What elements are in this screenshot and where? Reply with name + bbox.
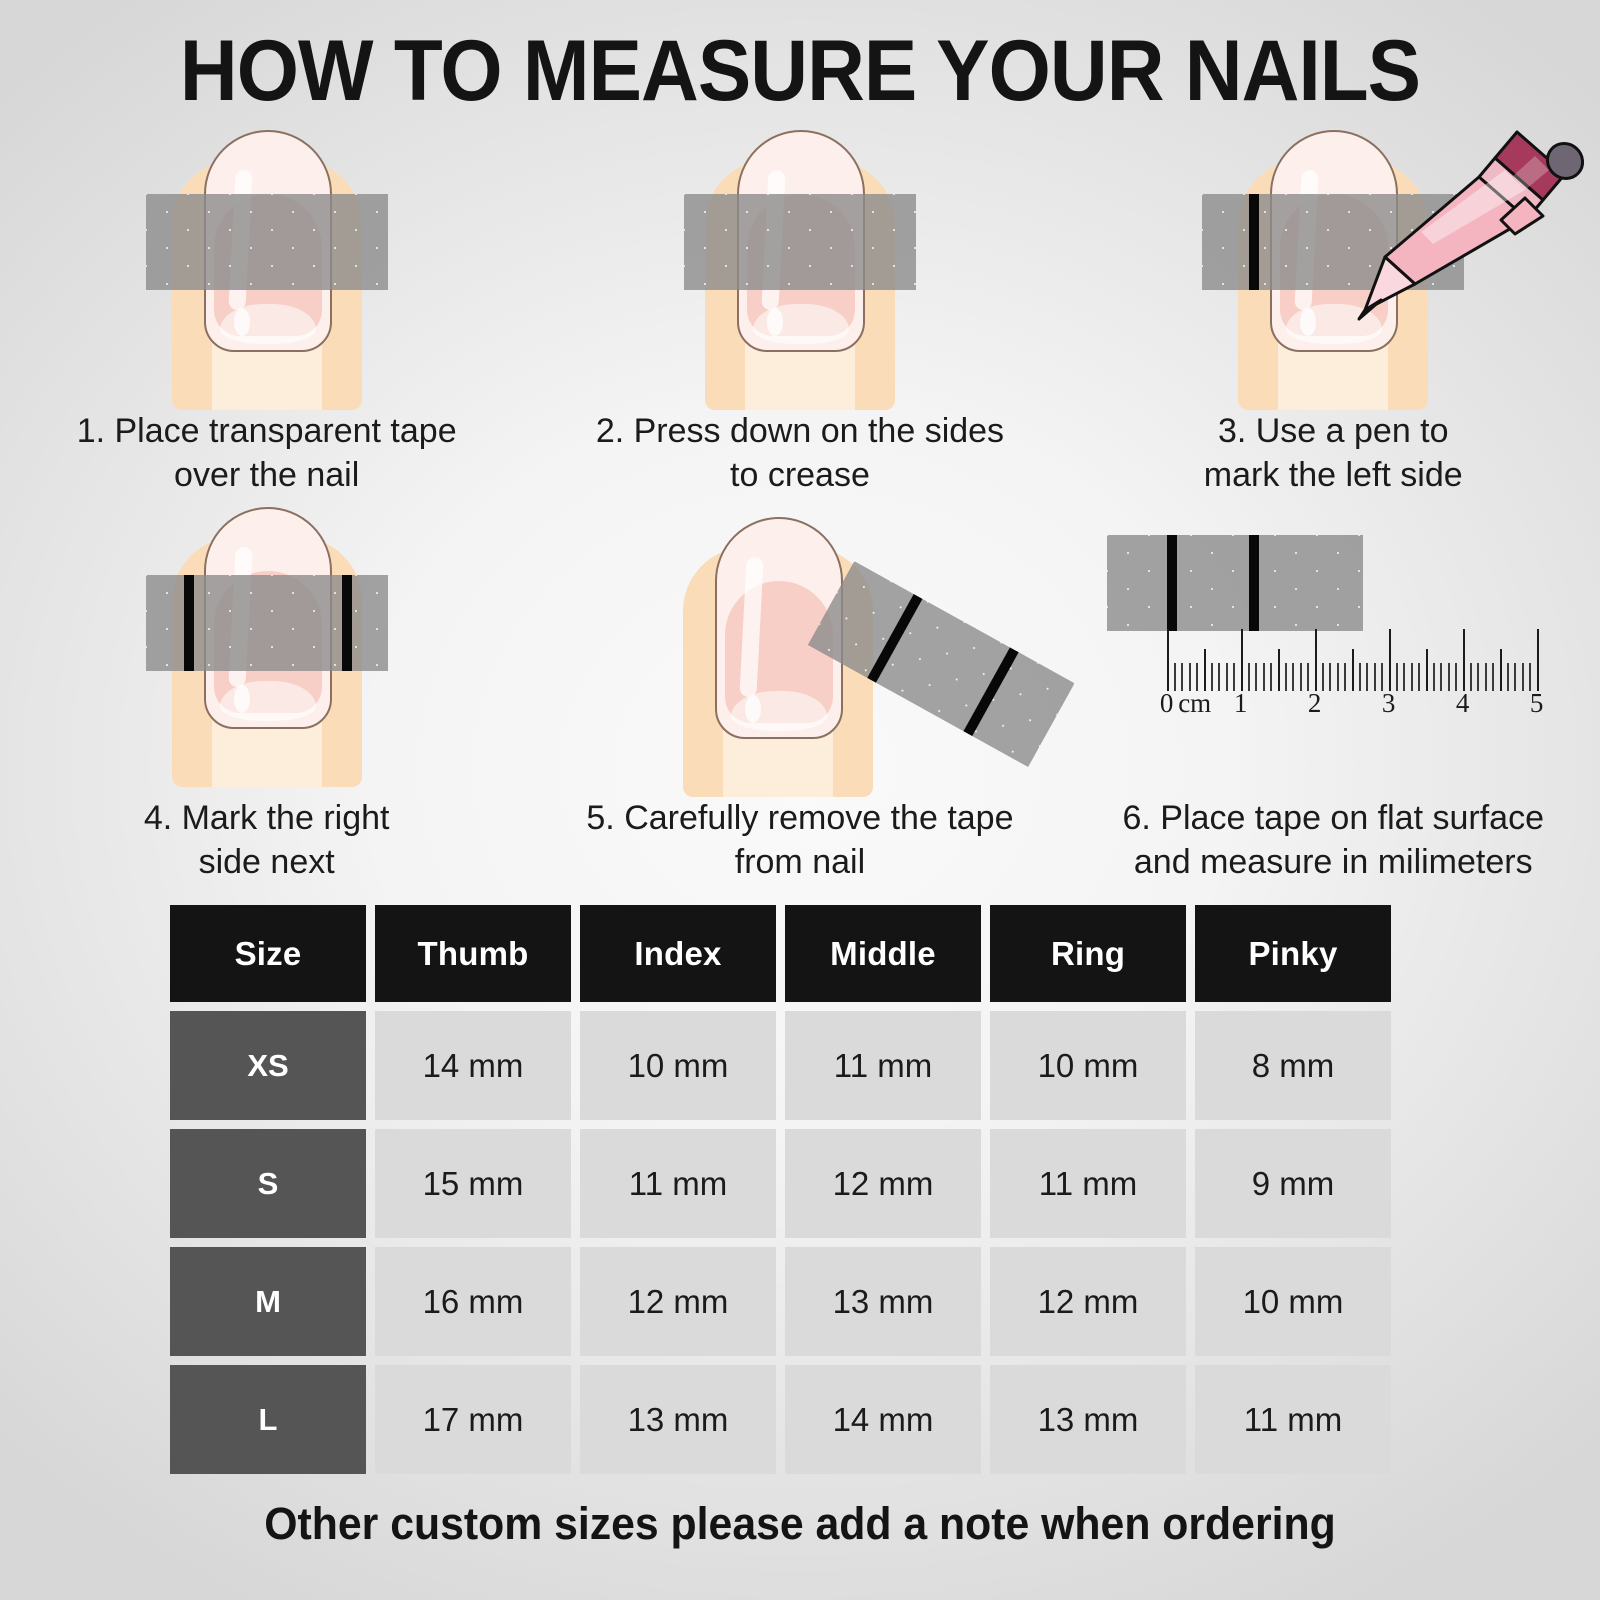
tape-zigzag-left (132, 575, 146, 671)
ruler-tick (1181, 663, 1183, 691)
table-row: S15 mm11 mm12 mm11 mm9 mm (170, 1129, 1435, 1238)
step-6-caption: 6. Place tape on flat surface and measur… (1067, 797, 1600, 884)
table-cell: 13 mm (785, 1247, 981, 1356)
ruler-tick (1285, 663, 1287, 691)
ruler-tick (1403, 663, 1405, 691)
table-cell: 12 mm (785, 1129, 981, 1238)
ruler-tick (1218, 663, 1220, 691)
table-cell: 13 mm (990, 1365, 1186, 1474)
step-1-illustration (0, 120, 533, 410)
step-2-caption: 2. Press down on the sides to crease (533, 410, 1066, 497)
ruler-tick (1463, 629, 1466, 691)
ruler-tick (1270, 663, 1272, 691)
table-row: L17 mm13 mm14 mm13 mm11 mm (170, 1365, 1435, 1474)
tape-strip-creased (684, 194, 916, 290)
table-header-size: Size (170, 905, 366, 1002)
ruler-tick (1211, 663, 1213, 691)
ruler-tick (1366, 663, 1368, 691)
step-4-illustration (0, 497, 533, 797)
ruler-tick (1189, 663, 1191, 691)
ruler-label-2: 2 (1308, 688, 1322, 719)
right-pen-mark (964, 647, 1019, 736)
ruler-tick (1514, 663, 1516, 691)
ruler-tick (1315, 629, 1318, 691)
pen-icon (1329, 114, 1589, 334)
table-cell: 8 mm (1195, 1011, 1391, 1120)
ruler-tick (1322, 663, 1324, 691)
ruler-tick (1396, 663, 1398, 691)
nail-lunula (731, 691, 827, 731)
tape-zigzag-right (388, 575, 402, 671)
table-size-cell: L (170, 1365, 366, 1474)
table-header-row: SizeThumbIndexMiddleRingPinky (170, 905, 1435, 1002)
ruler-tick (1440, 663, 1442, 691)
ruler-tick (1167, 629, 1170, 691)
infographic-page: HOW TO MEASURE YOUR NAILS (0, 0, 1600, 1600)
table-cell: 14 mm (785, 1365, 981, 1474)
table-size-cell: S (170, 1129, 366, 1238)
table-cell: 10 mm (990, 1011, 1186, 1120)
ruler-tick (1255, 663, 1257, 691)
table-cell: 11 mm (580, 1129, 776, 1238)
ruler-tick (1529, 663, 1531, 691)
ruler-tick (1374, 663, 1376, 691)
right-pen-mark (1249, 535, 1259, 631)
step-5: 5. Carefully remove the tape from nail (533, 497, 1066, 884)
ruler-tick (1389, 629, 1392, 691)
size-chart-table: SizeThumbIndexMiddleRingPinky XS14 mm10 … (170, 905, 1435, 1483)
step-6: 012345cm 6. Place tape on flat surface a… (1067, 497, 1600, 884)
ruler-tick (1359, 663, 1361, 691)
ruler-tick (1418, 663, 1420, 691)
ruler-tick (1448, 663, 1450, 691)
step-1-caption: 1. Place transparent tape over the nail (0, 410, 533, 497)
tape-strip (146, 194, 388, 290)
step-1: 1. Place transparent tape over the nail (0, 120, 533, 497)
table-cell: 9 mm (1195, 1129, 1391, 1238)
steps-row-1: 1. Place transparent tape over the nail (0, 120, 1600, 497)
table-cell: 12 mm (580, 1247, 776, 1356)
tape-zigzag-left (132, 194, 146, 290)
ruler-tick (1292, 663, 1294, 691)
ruler-label-4: 4 (1456, 688, 1470, 719)
table-body: XS14 mm10 mm11 mm10 mm8 mmS15 mm11 mm12 … (170, 1011, 1435, 1474)
ruler-tick (1226, 663, 1228, 691)
tape-zigzag-right (916, 194, 930, 290)
left-pen-mark (868, 594, 923, 683)
step-5-illustration (533, 497, 1066, 797)
ruler-tick (1337, 663, 1339, 691)
ruler-tick (1507, 663, 1509, 691)
table-row: XS14 mm10 mm11 mm10 mm8 mm (170, 1011, 1435, 1120)
ruler-label-3: 3 (1382, 688, 1396, 719)
left-pen-mark (1249, 194, 1259, 290)
ruler-tick (1381, 663, 1383, 691)
ruler-tick (1344, 663, 1346, 691)
steps-row-2: 4. Mark the right side next (0, 497, 1600, 884)
ruler-tick (1329, 663, 1331, 691)
left-pen-mark (1167, 535, 1177, 631)
ruler-tick (1196, 663, 1198, 691)
ruler-tick (1352, 649, 1354, 691)
step-4: 4. Mark the right side next (0, 497, 533, 884)
ruler-tick (1411, 663, 1413, 691)
ruler-label-5: 5 (1530, 688, 1544, 719)
table-header-thumb: Thumb (375, 905, 571, 1002)
ruler-label-1: 1 (1234, 688, 1248, 719)
ruler-tick (1470, 663, 1472, 691)
ruler-tick (1204, 649, 1206, 691)
ruler-tick (1500, 649, 1502, 691)
ruler-tick (1485, 663, 1487, 691)
nail-lunula (220, 681, 316, 721)
tape-zigzag-right (1363, 535, 1377, 631)
ruler-label-0: 0 (1160, 688, 1174, 719)
table-cell: 10 mm (580, 1011, 776, 1120)
left-pen-mark (184, 575, 194, 671)
table-header-pinky: Pinky (1195, 905, 1391, 1002)
table-cell: 10 mm (1195, 1247, 1391, 1356)
table-size-cell: XS (170, 1011, 366, 1120)
table-cell: 17 mm (375, 1365, 571, 1474)
step-3: 3. Use a pen to mark the left side (1067, 120, 1600, 497)
ruler-measurement: 012345cm (1097, 517, 1567, 767)
nail-lunula (220, 304, 316, 344)
table-header-ring: Ring (990, 905, 1186, 1002)
tape-zigzag-left (670, 194, 684, 290)
tape-strip-flat (1107, 535, 1363, 631)
table-header-middle: Middle (785, 905, 981, 1002)
ruler-tick (1455, 663, 1457, 691)
ruler-tick (1278, 649, 1280, 691)
tape-zigzag-left (1093, 535, 1107, 631)
table-cell: 12 mm (990, 1247, 1186, 1356)
steps-container: 1. Place transparent tape over the nail (0, 120, 1600, 884)
table-cell: 11 mm (990, 1129, 1186, 1238)
tape-zigzag-right (388, 194, 402, 290)
table-cell: 11 mm (785, 1011, 981, 1120)
ruler-tick (1248, 663, 1250, 691)
ruler-tick (1477, 663, 1479, 691)
step-2-illustration (533, 120, 1066, 410)
step-4-caption: 4. Mark the right side next (0, 797, 533, 884)
ruler-tick (1263, 663, 1265, 691)
table-cell: 16 mm (375, 1247, 571, 1356)
table-cell: 15 mm (375, 1129, 571, 1238)
tape-zigzag-left (1188, 194, 1202, 290)
ruler-tick (1174, 663, 1176, 691)
step-5-caption: 5. Carefully remove the tape from nail (533, 797, 1066, 884)
ruler-unit-label: cm (1178, 688, 1211, 719)
ruler-tick (1522, 663, 1524, 691)
ruler-tick (1433, 663, 1435, 691)
step-2: 2. Press down on the sides to crease (533, 120, 1066, 497)
step-3-illustration (1067, 120, 1600, 410)
ruler: 012345cm (1167, 629, 1537, 719)
ruler-tick (1492, 663, 1494, 691)
ruler-tick (1300, 663, 1302, 691)
step-3-caption: 3. Use a pen to mark the left side (1067, 410, 1600, 497)
table-header-index: Index (580, 905, 776, 1002)
ruler-tick (1537, 629, 1540, 691)
nail-lunula (753, 304, 849, 344)
ruler-tick (1233, 663, 1235, 691)
table-cell: 13 mm (580, 1365, 776, 1474)
table-cell: 11 mm (1195, 1365, 1391, 1474)
page-title: HOW TO MEASURE YOUR NAILS (56, 28, 1544, 114)
step-6-illustration: 012345cm (1067, 497, 1600, 797)
table-row: M16 mm12 mm13 mm12 mm10 mm (170, 1247, 1435, 1356)
ruler-tick (1241, 629, 1244, 691)
footer-note: Other custom sizes please add a note whe… (40, 1498, 1560, 1550)
ruler-tick (1426, 649, 1428, 691)
table-size-cell: M (170, 1247, 366, 1356)
right-pen-mark (342, 575, 352, 671)
table-cell: 14 mm (375, 1011, 571, 1120)
ruler-tick (1307, 663, 1309, 691)
